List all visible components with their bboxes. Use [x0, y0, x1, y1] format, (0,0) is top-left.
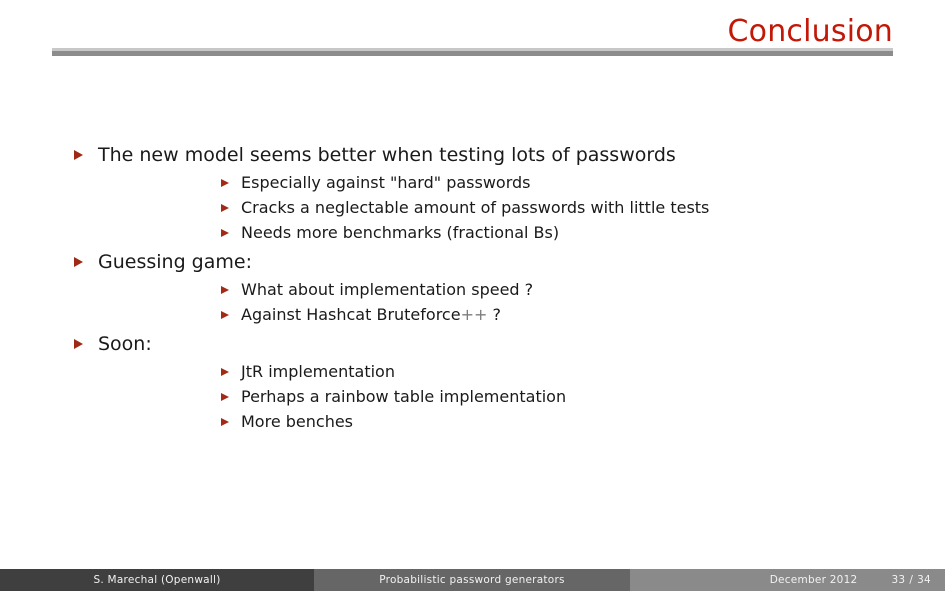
triangle-bullet-icon — [74, 339, 83, 349]
list-item-label: More benches — [241, 412, 353, 431]
list-item: Needs more benchmarks (fractional Bs) — [98, 220, 945, 245]
list-item: JtR implementation — [98, 359, 945, 384]
list-item: The new model seems better when testing … — [0, 140, 945, 245]
footer-meta: December 2012 33/34 — [630, 569, 945, 591]
list-item-label: Guessing game: — [98, 251, 252, 273]
footer-document-label: Probabilistic password generators — [379, 574, 565, 586]
triangle-bullet-icon — [221, 368, 229, 376]
list-item: Guessing game: What about implementation… — [0, 247, 945, 327]
list-item: Against Hashcat Bruteforce++ ? — [98, 302, 945, 327]
triangle-bullet-icon — [221, 229, 229, 237]
triangle-bullet-icon — [221, 204, 229, 212]
slide: Conclusion The new model seems better wh… — [0, 0, 945, 591]
footer-document-title: Probabilistic password generators — [314, 569, 630, 591]
triangle-bullet-icon — [221, 286, 229, 294]
list-item: Soon: JtR implementation Perhaps a rainb… — [0, 329, 945, 434]
outline-level-2: JtR implementation Perhaps a rainbow tab… — [98, 359, 945, 434]
list-item-label: Especially against "hard" passwords — [241, 173, 530, 192]
list-item-label: JtR implementation — [241, 362, 395, 381]
slide-content: The new model seems better when testing … — [0, 140, 945, 436]
list-item: Perhaps a rainbow table implementation — [98, 384, 945, 409]
footer-page-separator: / — [905, 574, 917, 586]
list-item: More benches — [98, 409, 945, 434]
title-block: Conclusion — [52, 14, 893, 50]
footer-page-total: 34 — [917, 574, 931, 586]
list-item-label: Needs more benchmarks (fractional Bs) — [241, 223, 559, 242]
list-item-label-prefix: Against Hashcat Bruteforce — [241, 305, 461, 324]
triangle-bullet-icon — [74, 150, 83, 160]
outline-level-1: The new model seems better when testing … — [0, 140, 945, 434]
list-item: Cracks a neglectable amount of passwords… — [98, 195, 945, 220]
footer-page-current: 33 — [891, 574, 905, 586]
triangle-bullet-icon — [221, 418, 229, 426]
triangle-bullet-icon — [221, 311, 229, 319]
slide-footer: S. Marechal (Openwall) Probabilistic pas… — [0, 569, 945, 591]
list-item-label: Perhaps a rainbow table implementation — [241, 387, 566, 406]
outline-level-2: Especially against "hard" passwords Crac… — [98, 170, 945, 245]
footer-date: December 2012 — [770, 574, 858, 586]
footer-author: S. Marechal (Openwall) — [0, 569, 314, 591]
list-item-label: The new model seems better when testing … — [98, 144, 676, 166]
footer-author-label: S. Marechal (Openwall) — [93, 574, 220, 586]
title-divider-body — [52, 51, 893, 56]
list-item: What about implementation speed ? — [98, 277, 945, 302]
list-item-label: Soon: — [98, 333, 152, 355]
triangle-bullet-icon — [74, 257, 83, 267]
page-title: Conclusion — [52, 14, 893, 50]
title-divider — [52, 48, 893, 56]
outline-level-2: What about implementation speed ? Agains… — [98, 277, 945, 327]
math-operator-plusplus: ++ — [461, 305, 488, 324]
triangle-bullet-icon — [221, 393, 229, 401]
list-item-label-suffix: ? — [487, 305, 501, 324]
list-item-label: What about implementation speed ? — [241, 280, 533, 299]
triangle-bullet-icon — [221, 179, 229, 187]
footer-page-indicator: 33/34 — [891, 574, 931, 586]
list-item: Especially against "hard" passwords — [98, 170, 945, 195]
list-item-label: Cracks a neglectable amount of passwords… — [241, 198, 709, 217]
